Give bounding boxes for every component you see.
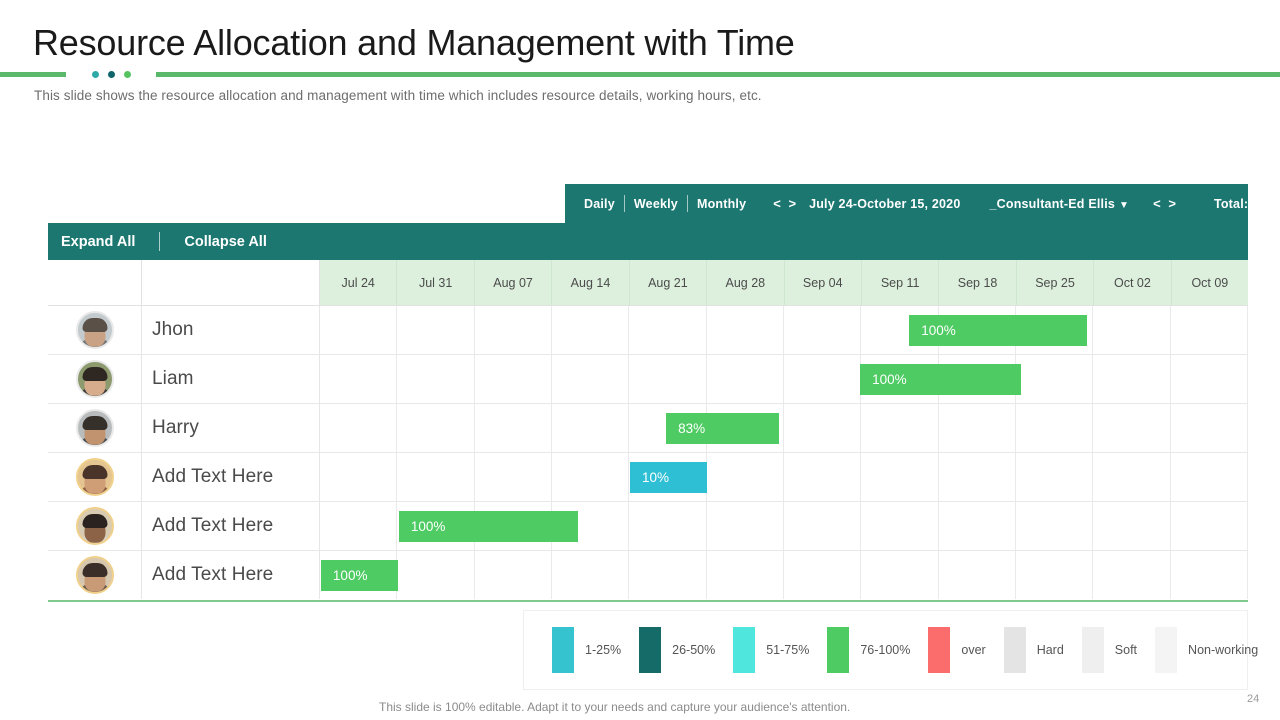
gantt-row-track: 100% (320, 551, 1248, 599)
avatar-cell (48, 306, 142, 354)
gantt-cell[interactable] (1171, 551, 1248, 599)
chevron-down-icon: ▼ (1119, 200, 1129, 211)
gantt-cell[interactable] (1093, 355, 1170, 403)
gantt-cell[interactable] (939, 404, 1016, 452)
granularity-weekly[interactable]: Weekly (625, 197, 687, 211)
gantt-cell[interactable] (861, 453, 938, 501)
legend-swatch (639, 627, 661, 673)
header-name-column (142, 260, 320, 305)
gantt-cell[interactable] (629, 502, 706, 550)
gantt-task-bar[interactable]: 100% (860, 364, 1021, 395)
page-title: Resource Allocation and Management with … (33, 22, 795, 64)
toolbar-separator (159, 232, 160, 251)
gantt-cell[interactable] (1093, 404, 1170, 452)
legend-swatch (552, 627, 574, 673)
gantt-cell[interactable] (1016, 355, 1093, 403)
header-avatar-column (48, 260, 142, 305)
gantt-cell[interactable] (1171, 453, 1248, 501)
gantt-date-header: Sep 18 (939, 260, 1016, 305)
expand-all-button[interactable]: Expand All (61, 234, 135, 250)
gantt-cell[interactable] (320, 404, 397, 452)
gantt-task-bar[interactable]: 100% (909, 315, 1087, 346)
gantt-cell[interactable] (397, 551, 474, 599)
gantt-cell[interactable] (552, 355, 629, 403)
gantt-task-bar[interactable]: 10% (630, 462, 707, 493)
consultant-filter-dropdown[interactable]: _Consultant-Ed Ellis▼ (989, 197, 1129, 211)
gantt-cell[interactable] (475, 551, 552, 599)
page-subtitle: This slide shows the resource allocation… (34, 88, 762, 103)
avatar-resource-4 (76, 458, 114, 496)
legend-label: Hard (1037, 643, 1064, 657)
gantt-cell[interactable] (320, 306, 397, 354)
legend-label: Non-working (1188, 643, 1258, 657)
gantt-toolbar: Expand All Collapse All (48, 223, 1248, 260)
gantt-cell[interactable] (1093, 453, 1170, 501)
gantt-cell[interactable] (1171, 404, 1248, 452)
gantt-cell[interactable] (784, 551, 861, 599)
resource-name[interactable]: Liam (142, 355, 320, 403)
gantt-cell[interactable] (552, 551, 629, 599)
gantt-date-header: Aug 14 (552, 260, 629, 305)
legend-item: Hard (1004, 627, 1082, 673)
gantt-cell[interactable] (1016, 551, 1093, 599)
table-row[interactable]: Add Text Here100% (48, 501, 1248, 550)
avatar-jhon (76, 311, 114, 349)
legend-label: 51-75% (766, 643, 809, 657)
gantt-date-header: Aug 07 (475, 260, 552, 305)
gantt-date-header: Sep 04 (785, 260, 862, 305)
avatar-cell (48, 453, 142, 501)
legend-item: Soft (1082, 627, 1155, 673)
table-row[interactable]: Jhon100% (48, 305, 1248, 354)
gantt-date-header: Oct 09 (1172, 260, 1248, 305)
gantt-date-header: Aug 28 (707, 260, 784, 305)
gantt-row-track: 100% (320, 306, 1248, 354)
gantt-date-header: Oct 02 (1094, 260, 1171, 305)
legend-swatch (928, 627, 950, 673)
legend-item: 51-75% (733, 627, 827, 673)
gantt-cell[interactable] (861, 502, 938, 550)
gantt-date-header: Aug 21 (630, 260, 707, 305)
footer-note: This slide is 100% editable. Adapt it to… (379, 700, 850, 714)
gantt-task-bar[interactable]: 100% (399, 511, 578, 542)
gantt-task-bar[interactable]: 83% (666, 413, 779, 444)
gantt-cell[interactable] (320, 355, 397, 403)
gantt-cell[interactable] (475, 355, 552, 403)
gantt-cell[interactable] (1171, 502, 1248, 550)
gantt-cell[interactable] (861, 551, 938, 599)
table-row[interactable]: Add Text Here100% (48, 550, 1248, 599)
gantt-cell[interactable] (861, 404, 938, 452)
slide-root: Resource Allocation and Management with … (0, 0, 1280, 720)
gantt-cell[interactable] (320, 453, 397, 501)
granularity-daily[interactable]: Daily (584, 197, 624, 211)
legend-label: over (961, 643, 985, 657)
gantt-cell[interactable] (397, 355, 474, 403)
total-label: Total:69 (1214, 197, 1263, 211)
gantt-cell[interactable] (1093, 306, 1170, 354)
gantt-cell[interactable] (939, 453, 1016, 501)
avatar-cell (48, 551, 142, 599)
gantt-date-header: Jul 31 (397, 260, 474, 305)
divider-dot-2 (108, 71, 115, 78)
table-row[interactable]: Add Text Here10% (48, 452, 1248, 501)
gantt-cell[interactable] (397, 404, 474, 452)
legend: 1-25%26-50%51-75%76-100%overHardSoftNon-… (523, 610, 1248, 690)
avatar-resource-5 (76, 507, 114, 545)
legend-item: 1-25% (552, 627, 639, 673)
gantt-cell[interactable] (707, 355, 784, 403)
gantt-date-header: Sep 25 (1017, 260, 1094, 305)
legend-swatch (1082, 627, 1104, 673)
gantt-cell[interactable] (939, 551, 1016, 599)
legend-item: Non-working (1155, 627, 1276, 673)
gantt-cell[interactable] (707, 551, 784, 599)
gantt-body: Jhon100%Liam100%Harry83%Add Text Here10%… (48, 305, 1248, 599)
gantt-cell[interactable] (707, 453, 784, 501)
legend-label: 26-50% (672, 643, 715, 657)
resource-name[interactable]: Harry (142, 404, 320, 452)
avatar-cell (48, 502, 142, 550)
resource-name[interactable]: Jhon (142, 306, 320, 354)
gantt-cell[interactable] (784, 453, 861, 501)
gantt-cell[interactable] (552, 306, 629, 354)
gantt-cell[interactable] (1016, 502, 1093, 550)
legend-swatch (827, 627, 849, 673)
gantt-row-track: 100% (320, 355, 1248, 403)
granularity-switch: Daily Weekly Monthly (584, 195, 755, 212)
divider-dot-3 (124, 71, 131, 78)
gantt-row-track: 100% (320, 502, 1248, 550)
table-row[interactable]: Harry83% (48, 403, 1248, 452)
gantt-cell[interactable] (629, 306, 706, 354)
gantt-header-row: Jul 24Jul 31Aug 07Aug 14Aug 21Aug 28Sep … (48, 260, 1248, 305)
page-number: 24 (1247, 693, 1259, 705)
gantt-cell[interactable] (475, 306, 552, 354)
legend-swatch (1004, 627, 1026, 673)
date-range-label: July 24-October 15, 2020 (809, 197, 960, 211)
gantt-cell[interactable] (397, 453, 474, 501)
gantt-cell[interactable] (784, 502, 861, 550)
resource-name[interactable]: Add Text Here (142, 551, 320, 599)
gantt-row-track: 83% (320, 404, 1248, 452)
gantt-date-header: Sep 11 (862, 260, 939, 305)
gantt-cell[interactable] (707, 306, 784, 354)
resource-name[interactable]: Add Text Here (142, 453, 320, 501)
table-row[interactable]: Liam100% (48, 354, 1248, 403)
consultant-prev-next-arrows[interactable]: < > (1153, 196, 1178, 211)
avatar-cell (48, 404, 142, 452)
legend-label: Soft (1115, 643, 1137, 657)
gantt-cell[interactable] (1016, 404, 1093, 452)
gantt-cell[interactable] (475, 404, 552, 452)
title-divider-dots (66, 68, 156, 81)
granularity-monthly[interactable]: Monthly (688, 197, 755, 211)
legend-swatch (733, 627, 755, 673)
legend-label: 1-25% (585, 643, 621, 657)
gantt-cell[interactable] (1171, 355, 1248, 403)
gantt-cell[interactable] (1171, 306, 1248, 354)
gantt-cell[interactable] (1016, 453, 1093, 501)
gantt-cell[interactable] (784, 306, 861, 354)
legend-item: 26-50% (639, 627, 733, 673)
gantt-cell[interactable] (397, 306, 474, 354)
gantt-date-header: Jul 24 (320, 260, 397, 305)
gantt-control-bar: Daily Weekly Monthly < > July 24-October… (565, 184, 1248, 223)
collapse-all-button[interactable]: Collapse All (184, 234, 266, 250)
gantt-cell[interactable] (707, 502, 784, 550)
gantt-cell[interactable] (939, 502, 1016, 550)
legend-swatch (1155, 627, 1177, 673)
avatar-liam (76, 360, 114, 398)
gantt-cell[interactable] (629, 551, 706, 599)
avatar-resource-6 (76, 556, 114, 594)
gantt-cell[interactable] (552, 404, 629, 452)
avatar-harry (76, 409, 114, 447)
gantt-cell[interactable] (1093, 551, 1170, 599)
legend-item: over (928, 627, 1003, 673)
gantt-cell[interactable] (475, 453, 552, 501)
gantt-cell[interactable] (784, 404, 861, 452)
gantt-task-bar[interactable]: 100% (321, 560, 398, 591)
divider-dot-1 (92, 71, 99, 78)
date-prev-next-arrows[interactable]: < > (773, 196, 798, 211)
gantt-table: Jul 24Jul 31Aug 07Aug 14Aug 21Aug 28Sep … (48, 260, 1248, 602)
legend-label: 76-100% (860, 643, 910, 657)
resource-name[interactable]: Add Text Here (142, 502, 320, 550)
gantt-cell[interactable] (320, 502, 397, 550)
consultant-filter-label: _Consultant-Ed Ellis (989, 197, 1115, 211)
gantt-cell[interactable] (1093, 502, 1170, 550)
legend-item: 76-100% (827, 627, 928, 673)
gantt-row-track: 10% (320, 453, 1248, 501)
title-divider-rule (0, 72, 1280, 77)
gantt-cell[interactable] (784, 355, 861, 403)
gantt-cell[interactable] (629, 355, 706, 403)
gantt-cell[interactable] (552, 453, 629, 501)
avatar-cell (48, 355, 142, 403)
